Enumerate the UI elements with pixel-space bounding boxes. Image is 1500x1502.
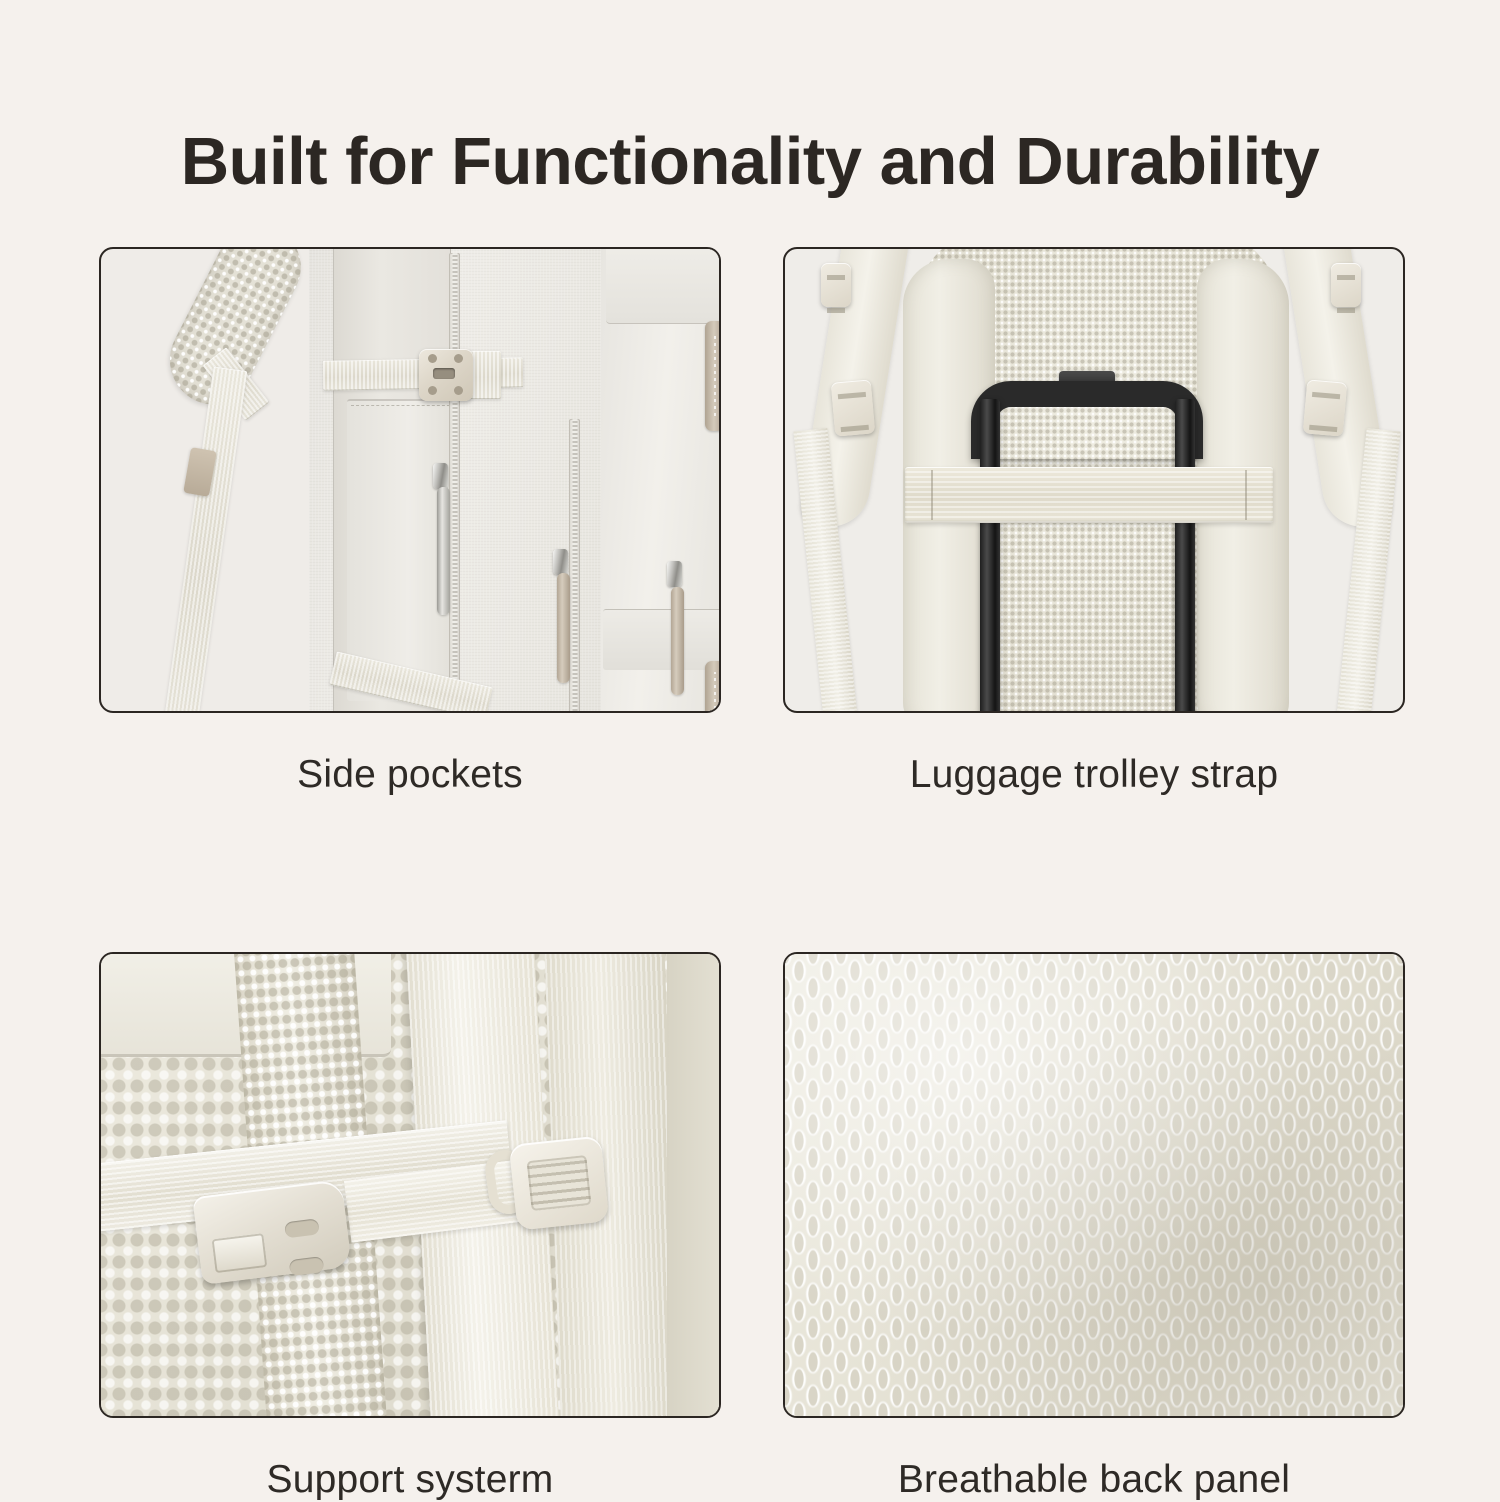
pocket-flap-top: [606, 247, 721, 324]
pocket-pull-tab-bottom: [705, 661, 721, 713]
zipper-slider-side: [553, 549, 568, 575]
feature-card-support-system: Support systerm: [99, 952, 721, 1502]
feature-image-luggage-trolley-strap: [783, 247, 1405, 713]
feature-card-breathable-back-panel: Breathable back panel: [783, 952, 1405, 1502]
buckle-body: [192, 1179, 352, 1285]
page-title: Built for Functionality and Durability: [0, 127, 1500, 197]
buckle-prong-top: [284, 1218, 320, 1238]
trolley-handle-grip: [971, 381, 1203, 459]
zipper-teeth-icon: [572, 419, 577, 713]
feature-caption-luggage-trolley-strap: Luggage trolley strap: [783, 753, 1405, 797]
feature-image-breathable-back-panel: [783, 952, 1405, 1418]
zipper-slider-right: [667, 561, 682, 587]
strap-clip-right: [1331, 263, 1361, 307]
mesh-lighting-sheen: [785, 954, 1403, 1416]
buckle-webbing-slot: [212, 1233, 268, 1273]
infographic-page: Built for Functionality and Durability: [0, 0, 1500, 1500]
ladder-lock-adjuster: [509, 1135, 609, 1230]
zipper-tape-side: [569, 419, 580, 713]
feature-card-side-pockets: Side pockets: [99, 247, 721, 797]
feature-caption-breathable-back-panel: Breathable back panel: [783, 1458, 1405, 1502]
luggage-trolley-strap: [905, 467, 1273, 523]
side-release-buckle: [419, 349, 473, 401]
zipper-pull-front: [437, 487, 450, 615]
zipper-teeth-icon: [452, 253, 457, 713]
zipper-pull-right: [671, 587, 684, 695]
trolley-handle-pole-right: [1175, 399, 1195, 713]
strap-clip-left: [821, 263, 851, 307]
side-release-buckle: [190, 1161, 354, 1300]
feature-caption-side-pockets: Side pockets: [99, 753, 721, 797]
zipper-tape-front: [449, 253, 460, 713]
zipper-pull-side: [557, 573, 570, 683]
feature-image-support-system: [99, 952, 721, 1418]
breathable-mesh-illustration: [785, 954, 1403, 1416]
strap-webbing-long: [161, 366, 248, 713]
bag-side-edge: [667, 952, 721, 1418]
buckle-prong-bottom: [289, 1256, 325, 1276]
pocket-pull-tab-top: [705, 321, 721, 431]
trolley-strap-illustration: [785, 249, 1403, 711]
ladder-lock-left: [831, 379, 876, 436]
feature-grid: Side pockets: [99, 247, 1405, 1502]
side-pockets-illustration: [101, 249, 719, 711]
pocket-flap-bottom: [603, 609, 721, 670]
zipper-slider-front: [433, 463, 448, 489]
feature-caption-support-system: Support systerm: [99, 1458, 721, 1502]
feature-card-luggage-trolley-strap: Luggage trolley strap: [783, 247, 1405, 797]
feature-image-side-pockets: [99, 247, 721, 713]
support-system-illustration: [101, 954, 719, 1416]
trolley-handle-pole-left: [980, 399, 1000, 713]
stitch-line: [351, 405, 455, 406]
ladder-lock-right: [1303, 379, 1348, 436]
